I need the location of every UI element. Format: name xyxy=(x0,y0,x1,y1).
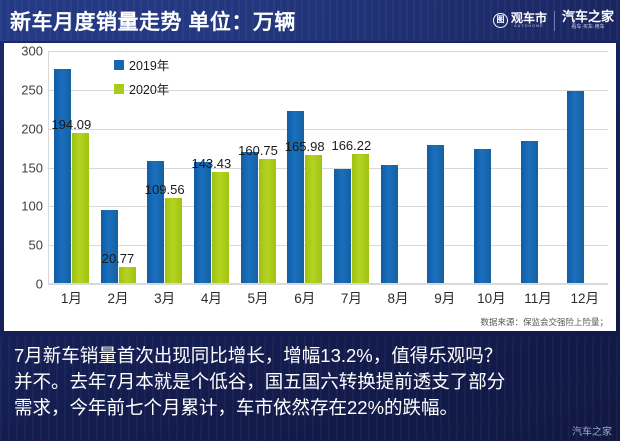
bar-group xyxy=(468,51,515,283)
data-label-5月: 160.75 xyxy=(238,143,278,158)
bar-group: 160.75 xyxy=(235,51,282,283)
y-tick-label: 100 xyxy=(21,199,43,214)
data-label-6月: 165.98 xyxy=(285,139,325,154)
caption-line-3: 需求，今年前七个月累计，车市依然存在22%的跌幅。 xyxy=(14,395,608,421)
bar-2019年-6月[interactable] xyxy=(287,111,304,283)
chart-card: 050100150200250300 194.0920.77109.56143.… xyxy=(4,43,616,331)
y-tick-label: 200 xyxy=(21,121,43,136)
bar-2019年-3月[interactable] xyxy=(147,161,164,283)
bar-2019年-11月[interactable] xyxy=(521,141,538,283)
x-tick-label: 1月 xyxy=(48,287,95,309)
bar-2020年-4月[interactable] xyxy=(212,172,229,283)
x-tick-label: 10月 xyxy=(468,287,515,309)
bar-2019年-2月[interactable] xyxy=(101,210,118,283)
legend-swatch-2019 xyxy=(114,60,124,70)
bar-2020年-1月[interactable] xyxy=(72,133,89,283)
bar-2020年-5月[interactable] xyxy=(259,159,276,283)
bar-group: 194.09 xyxy=(48,51,95,283)
gridline xyxy=(48,284,608,285)
header-bar: 新车月度销量走势 单位：万辆 图 观车市 AUTOHOME 汽车之家 看车·买车… xyxy=(0,0,620,41)
y-tick-label: 50 xyxy=(29,238,43,253)
bar-group xyxy=(561,51,608,283)
circle-logo-icon: 图 xyxy=(493,13,508,28)
x-tick-label: 4月 xyxy=(188,287,235,309)
bar-2020年-6月[interactable] xyxy=(305,155,322,283)
page-title: 新车月度销量走势 单位：万辆 xyxy=(10,6,296,36)
caption-line-1: 7月新车销量首次出现同比增长，增幅13.2%，值得乐观吗？ xyxy=(14,343,608,369)
infographic-poster: 新车月度销量走势 单位：万辆 图 观车市 AUTOHOME 汽车之家 看车·买车… xyxy=(0,0,620,441)
data-label-3月: 109.56 xyxy=(145,182,185,197)
x-tick-label: 8月 xyxy=(375,287,422,309)
data-label-2月: 20.77 xyxy=(102,251,135,266)
x-tick-label: 5月 xyxy=(235,287,282,309)
legend-item-2020: 2020年 xyxy=(114,79,169,98)
bar-2019年-8月[interactable] xyxy=(381,165,398,283)
legend-label-2020: 2020年 xyxy=(129,79,169,98)
brand-logos: 图 观车市 AUTOHOME 汽车之家 看车·买车·用车 xyxy=(493,6,614,35)
x-axis-labels: 1月2月3月4月5月6月7月8月9月10月11月12月 xyxy=(48,287,608,309)
logo-autohome: 汽车之家 看车·买车·用车 xyxy=(562,10,614,31)
x-tick-label: 12月 xyxy=(561,287,608,309)
legend-swatch-2020 xyxy=(114,84,124,94)
bar-group: 165.98 xyxy=(281,51,328,283)
bar-2019年-5月[interactable] xyxy=(241,152,258,283)
bar-group: 143.43 xyxy=(188,51,235,283)
logo-guancheshi-sub: AUTOHOME xyxy=(514,24,544,29)
x-tick-label: 6月 xyxy=(281,287,328,309)
data-label-4月: 143.43 xyxy=(191,156,231,171)
bar-2020年-2月[interactable] xyxy=(119,267,136,283)
bar-2020年-7月[interactable] xyxy=(352,154,369,283)
data-label-1月: 194.09 xyxy=(51,117,91,132)
y-tick-label: 150 xyxy=(21,160,43,175)
bar-2020年-3月[interactable] xyxy=(165,198,182,283)
logo-autohome-name: 汽车之家 xyxy=(562,10,614,24)
logo-guancheshi: 图 观车市 AUTOHOME xyxy=(493,12,547,29)
bar-group xyxy=(375,51,422,283)
caption-line-2: 并不。去年7月本就是个低谷，国五国六转换提前透支了部分 xyxy=(14,369,608,395)
legend-label-2019: 2019年 xyxy=(129,55,169,74)
chart-legend: 2019年 2020年 xyxy=(114,55,169,98)
y-tick-label: 300 xyxy=(21,44,43,59)
bar-2019年-10月[interactable] xyxy=(474,149,491,283)
watermark: 汽车之家 xyxy=(572,423,612,438)
caption-block: 7月新车销量首次出现同比增长，增幅13.2%，值得乐观吗？ 并不。去年7月本就是… xyxy=(0,337,620,441)
logo-autohome-sub: 看车·买车·用车 xyxy=(571,24,604,31)
legend-item-2019: 2019年 xyxy=(114,55,169,74)
x-tick-label: 9月 xyxy=(421,287,468,309)
y-tick-label: 0 xyxy=(36,277,43,292)
logo-divider xyxy=(554,11,555,31)
bar-2019年-9月[interactable] xyxy=(427,145,444,283)
bar-2019年-4月[interactable] xyxy=(194,162,211,283)
x-tick-label: 11月 xyxy=(515,287,562,309)
logo-guancheshi-name: 观车市 xyxy=(511,12,547,24)
bar-2019年-12月[interactable] xyxy=(567,91,584,283)
bar-2019年-1月[interactable] xyxy=(54,69,71,283)
bar-group xyxy=(515,51,562,283)
y-tick-label: 250 xyxy=(21,82,43,97)
bar-group xyxy=(421,51,468,283)
x-tick-label: 2月 xyxy=(95,287,142,309)
bar-group: 166.22 xyxy=(328,51,375,283)
source-note: 数据来源：保监会交强险上险量； xyxy=(480,316,608,328)
x-tick-label: 3月 xyxy=(141,287,188,309)
bar-2019年-7月[interactable] xyxy=(334,169,351,283)
data-label-7月: 166.22 xyxy=(331,138,371,153)
x-tick-label: 7月 xyxy=(328,287,375,309)
